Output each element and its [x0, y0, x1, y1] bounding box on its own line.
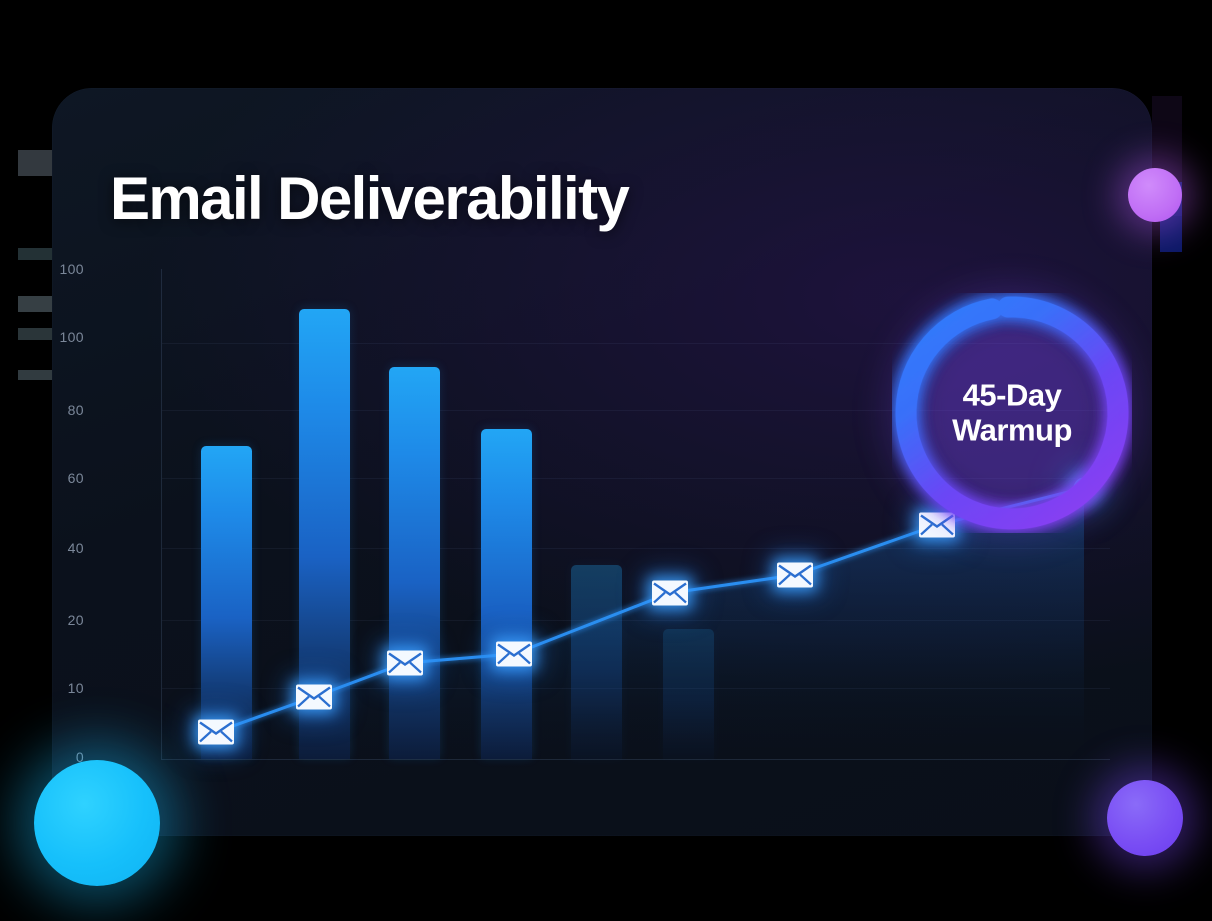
- badge-label-line2: Warmup: [892, 413, 1132, 448]
- y-axis-tick-label: 40: [52, 540, 84, 556]
- decorative-circle-violet: [1107, 780, 1183, 856]
- envelope-marker-2[interactable]: [296, 685, 332, 710]
- envelope-glyph: [387, 651, 423, 676]
- envelope-marker-5[interactable]: [652, 581, 688, 606]
- envelope-marker-6[interactable]: [777, 563, 813, 588]
- background-artifact-left-2: [18, 248, 52, 260]
- badge-label-line1: 45-Day: [892, 378, 1132, 413]
- y-axis-tick-label: 20: [52, 612, 84, 628]
- envelope-glyph: [652, 581, 688, 606]
- y-axis-tick-label: 100: [52, 261, 84, 277]
- y-axis-tick-label: 10: [52, 680, 84, 696]
- envelope-marker-4[interactable]: [496, 642, 532, 667]
- decorative-circle-cyan: [34, 760, 160, 886]
- envelope-glyph: [496, 642, 532, 667]
- envelope-glyph: [777, 563, 813, 588]
- warmup-badge[interactable]: 45-Day Warmup: [892, 293, 1132, 533]
- deliverability-card: Email Deliverability 100 100 80 60 40 20…: [52, 88, 1152, 836]
- envelope-marker-3[interactable]: [387, 651, 423, 676]
- background-artifact-left-5: [18, 370, 52, 380]
- y-axis-tick-label: 100: [52, 329, 84, 345]
- background-artifact-left: [18, 150, 52, 176]
- background-artifact-left-3: [18, 296, 52, 312]
- envelope-marker-1[interactable]: [198, 720, 234, 745]
- badge-label: 45-Day Warmup: [892, 378, 1132, 447]
- screenshot-root: Email Deliverability 100 100 80 60 40 20…: [0, 0, 1212, 921]
- decorative-circle-purple: [1128, 168, 1182, 222]
- envelope-glyph: [296, 685, 332, 710]
- y-axis-tick-label: 60: [52, 470, 84, 486]
- y-axis-tick-label: 80: [52, 402, 84, 418]
- envelope-glyph: [198, 720, 234, 745]
- background-artifact-left-4: [18, 328, 52, 340]
